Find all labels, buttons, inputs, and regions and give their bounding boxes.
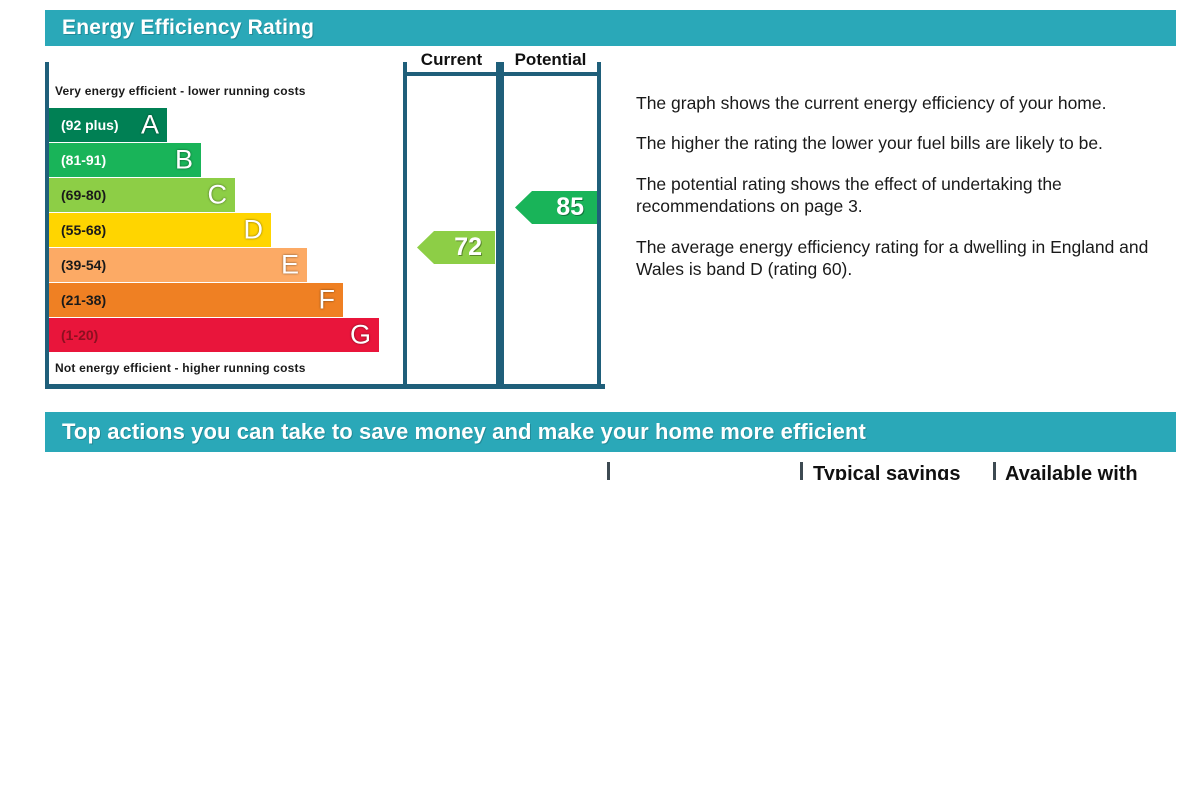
page-title: Energy Efficiency Rating [45,16,314,40]
band-range-g: (1-20) [49,327,98,343]
band-letter-b: B [175,147,193,174]
explanatory-text: The graph shows the current energy effic… [636,92,1176,298]
band-range-c: (69-80) [49,187,106,203]
top-actions-banner: Top actions you can take to save money a… [45,412,1176,452]
rating-band-c: (69-80)C [49,178,235,212]
band-range-e: (39-54) [49,257,106,273]
info-paragraph-4: The average energy efficiency rating for… [636,236,1176,281]
rating-band-f: (21-38)F [49,283,343,317]
current-column-header: Current [407,48,496,76]
table-divider-1 [607,462,610,480]
recommendations-table-header-cutoff: Typical savings Available with [45,462,1176,480]
rating-band-d: (55-68)D [49,213,271,247]
current-column: Current [403,62,500,385]
band-range-b: (81-91) [49,152,106,168]
potential-rating-arrow: 85 [515,191,597,224]
band-letter-e: E [281,252,299,279]
band-letter-g: G [350,322,371,349]
not-efficient-caption: Not energy efficient - higher running co… [55,361,306,375]
top-actions-title: Top actions you can take to save money a… [45,419,866,445]
typical-savings-header: Typical savings [813,463,960,480]
rating-graph: Very energy efficient - lower running co… [45,48,603,388]
band-letter-a: A [141,112,159,139]
band-range-d: (55-68) [49,222,106,238]
band-letter-f: F [319,287,336,314]
rating-band-a: (92 plus)A [49,108,167,142]
table-divider-3 [993,462,996,480]
epc-energy-efficiency-chart: Energy Efficiency Rating Very energy eff… [0,0,1200,800]
potential-column-header: Potential [504,48,597,76]
rating-band-b: (81-91)B [49,143,201,177]
info-paragraph-3: The potential rating shows the effect of… [636,173,1176,218]
band-letter-c: C [208,182,228,209]
band-range-a: (92 plus) [49,117,119,133]
info-paragraph-2: The higher the rating the lower your fue… [636,132,1176,154]
energy-efficiency-rating-banner: Energy Efficiency Rating [45,10,1176,46]
band-range-f: (21-38) [49,292,106,308]
very-efficient-caption: Very energy efficient - lower running co… [55,84,306,98]
info-paragraph-1: The graph shows the current energy effic… [636,92,1176,114]
available-with-header: Available with [1005,463,1138,480]
band-letter-d: D [244,217,264,244]
rating-band-g: (1-20)G [49,318,379,352]
table-divider-2 [800,462,803,480]
rating-band-e: (39-54)E [49,248,307,282]
rating-band-list: (92 plus)A(81-91)B(69-80)C(55-68)D(39-54… [49,108,401,353]
